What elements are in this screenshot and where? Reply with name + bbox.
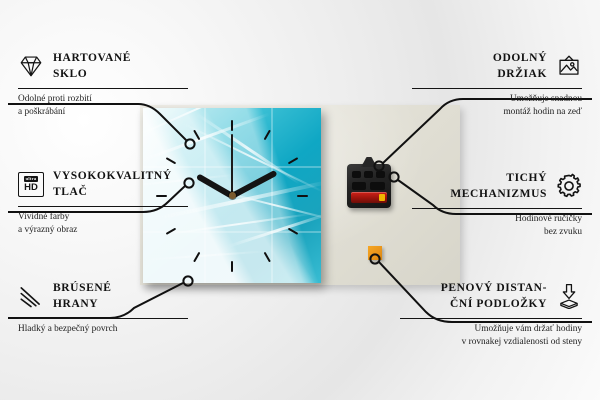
feature-desc-line: Hodinové ručičky (412, 213, 582, 226)
feature-title-line: ODOLNÝ (493, 50, 547, 66)
feature-ground-edges: BRÚSENÉ HRANY Hladký a bezpečný povrch (18, 280, 188, 336)
clock-center-pivot (229, 192, 236, 199)
feature-title: ODOLNÝ DRŽIAK (493, 50, 547, 83)
feature-header: TICHÝ MECHANIZMUS (412, 170, 582, 203)
feature-high-quality-print: ultra HD VYSOKOKVALITNÝ TLAČ Vividné far… (18, 168, 188, 238)
feature-header: ODOLNÝ DRŽIAK (412, 50, 582, 83)
feature-title-line: TLAČ (53, 184, 172, 200)
feature-title: VYSOKOKVALITNÝ TLAČ (53, 168, 172, 201)
clock-tick (231, 120, 233, 131)
feature-title: PENOVÝ DISTAN- ČNÍ PODLOŽKY (441, 280, 547, 313)
feature-desc-line: Hladký a bezpečný povrch (18, 323, 188, 336)
feature-tempered-glass: HARTOVANÉ SKLO Odolné proti rozbití a po… (18, 50, 188, 120)
feature-desc-line: v rovnakej vzdialenosti od steny (400, 336, 582, 349)
feature-divider (18, 88, 188, 89)
feature-durable-holder: ODOLNÝ DRŽIAK Umožňuje snadnou montáž ho… (412, 50, 582, 120)
feature-title: HARTOVANÉ SKLO (53, 50, 131, 83)
feature-desc-line: Odolné proti rozbití (18, 93, 188, 106)
mechanism-slot (352, 182, 366, 190)
feature-title-line: DRŽIAK (493, 66, 547, 82)
feature-desc-line: bez zvuku (412, 226, 582, 239)
mechanism-slot (370, 182, 385, 190)
feature-title-line: PENOVÝ DISTAN- (441, 280, 547, 296)
mechanism-slot (352, 171, 361, 178)
feature-description: Vividné farby a výrazný obraz (18, 211, 188, 238)
feature-title-line: HRANY (53, 296, 112, 312)
badge-ultra-label: ultra (24, 176, 39, 181)
mechanism-slot (364, 171, 373, 178)
feature-title-line: VYSOKOKVALITNÝ (53, 168, 172, 184)
ground-edges-icon (18, 283, 44, 309)
mechanism-slot (376, 171, 385, 178)
ultra-hd-badge-icon: ultra HD (18, 172, 44, 197)
feature-header: ultra HD VYSOKOKVALITNÝ TLAČ (18, 168, 188, 201)
glass-seam (271, 108, 273, 283)
feature-header: HARTOVANÉ SKLO (18, 50, 188, 83)
feature-description: Hladký a bezpečný povrch (18, 323, 188, 336)
clock-mechanism (347, 164, 391, 208)
feature-title-line: TICHÝ (450, 170, 547, 186)
clock-tick (297, 195, 308, 197)
mechanism-battery (351, 192, 387, 203)
foam-spacer-icon (556, 283, 582, 309)
feature-desc-line: a výrazný obraz (18, 224, 188, 237)
feature-title-line: BRÚSENÉ (53, 280, 112, 296)
feature-description: Umožňuje snadnou montáž hodin na zeď (412, 93, 582, 120)
feature-divider (18, 206, 188, 207)
feature-foam-spacers: PENOVÝ DISTAN- ČNÍ PODLOŽKY Umožňuje vám… (400, 280, 582, 350)
feature-desc-line: a poškrábání (18, 106, 188, 119)
feature-title-line: ČNÍ PODLOŽKY (441, 296, 547, 312)
feature-desc-line: montáž hodin na zeď (412, 106, 582, 119)
feature-title-line: HARTOVANÉ (53, 50, 131, 66)
foam-spacer-pad (368, 246, 382, 260)
feature-description: Odolné proti rozbití a poškrábání (18, 93, 188, 120)
feature-title-line: MECHANIZMUS (450, 186, 547, 202)
feature-description: Umožňuje vám držať hodiny v rovnakej vzd… (400, 323, 582, 350)
wall-mount-icon (556, 53, 582, 79)
feature-title: TICHÝ MECHANIZMUS (450, 170, 547, 203)
feature-header: PENOVÝ DISTAN- ČNÍ PODLOŽKY (400, 280, 582, 313)
feature-description: Hodinové ručičky bez zvuku (412, 213, 582, 240)
feature-desc-line: Umožňuje snadnou (412, 93, 582, 106)
gear-icon (556, 173, 582, 199)
feature-title-line: SKLO (53, 66, 131, 82)
badge-hd-label: HD (24, 183, 38, 193)
feature-desc-line: Vividné farby (18, 211, 188, 224)
feature-desc-line: Umožňuje vám držať hodiny (400, 323, 582, 336)
clock-second-hand (231, 134, 233, 196)
infographic-stage: HARTOVANÉ SKLO Odolné proti rozbití a po… (0, 0, 600, 400)
clock-tick (231, 261, 233, 272)
feature-header: BRÚSENÉ HRANY (18, 280, 188, 313)
feature-divider (18, 318, 188, 319)
feature-divider (400, 318, 582, 319)
diamond-icon (18, 53, 44, 79)
glass-seam (204, 108, 206, 283)
feature-title: BRÚSENÉ HRANY (53, 280, 112, 313)
feature-divider (412, 88, 582, 89)
feature-divider (412, 208, 582, 209)
feature-silent-mechanism: TICHÝ MECHANIZMUS Hodinové ručičky bez z… (412, 170, 582, 240)
